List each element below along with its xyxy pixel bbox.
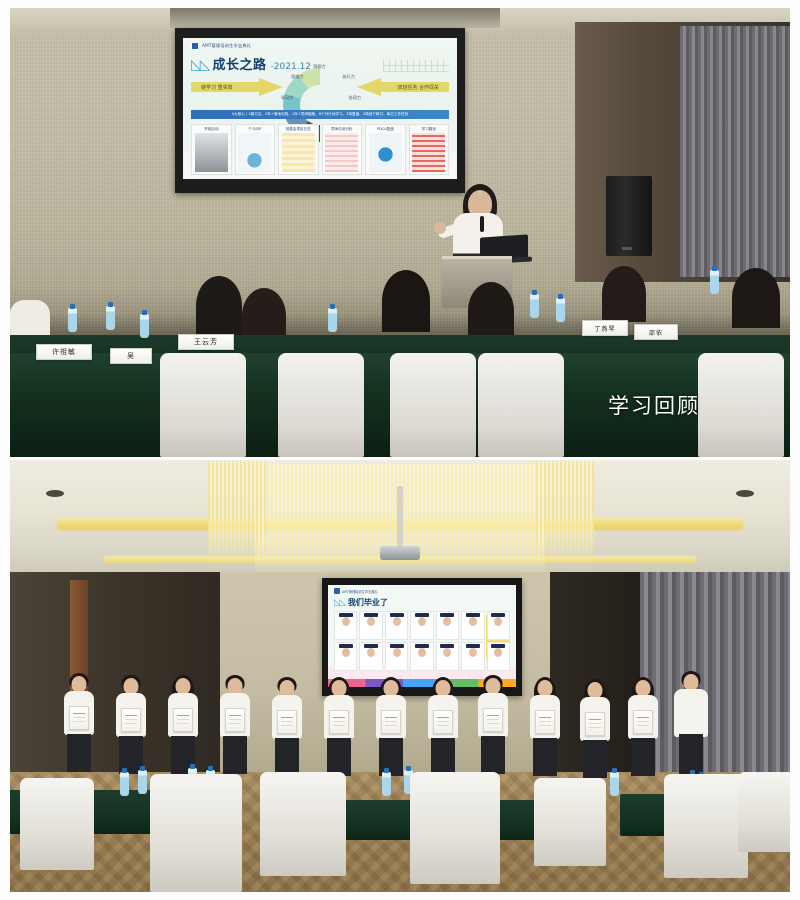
slide-card-label: 开班启动 [204, 127, 218, 132]
gauge-label-0: 驱动力 [281, 95, 294, 101]
graduate [578, 682, 612, 774]
graduate-photo [461, 611, 484, 640]
gauge-label-3: 执行力 [342, 74, 355, 80]
graduate-photo [334, 642, 357, 671]
graduate-face [443, 648, 451, 657]
slide-arrow-right-label: 双班任务 合作闯关 [397, 84, 449, 91]
projector-icon [380, 546, 420, 560]
slide-card-row: 开班启动 个人IDP 班委会项目日志 [191, 124, 449, 175]
attendee [382, 270, 430, 332]
slide-card-label: 个人IDP [248, 127, 261, 132]
certificate [225, 708, 245, 732]
window-curtain [640, 572, 790, 802]
slide-grid-decoration [383, 60, 449, 72]
graduate-face [367, 648, 375, 657]
slide-card-body [238, 133, 271, 172]
certificate [173, 708, 193, 732]
chair-cover [160, 353, 246, 457]
chair-cover [150, 774, 242, 892]
graduate [114, 678, 148, 774]
certificate [381, 710, 401, 734]
water-bottle [68, 308, 77, 332]
water-bottle [610, 772, 619, 796]
slide-header: AMT管理培训生毕业典礼 [334, 588, 378, 594]
slide-card-body [369, 133, 402, 172]
graduate-photo [385, 642, 408, 671]
graduate-photo [410, 611, 433, 640]
certificate [535, 710, 555, 734]
graduate-face [494, 617, 502, 626]
presenter-hand [434, 222, 446, 234]
name-placard: 吴 [110, 348, 152, 364]
graduate-legs [275, 738, 299, 776]
certificate [633, 710, 653, 734]
graduate-photo-grid [334, 611, 510, 671]
water-bottle [530, 294, 539, 318]
graduate [374, 680, 408, 774]
attendee [196, 276, 242, 336]
slide-card-body [195, 133, 228, 172]
graduate-photo [410, 642, 433, 671]
slide-card: 导师访谈分析 [322, 124, 363, 175]
graduate [270, 680, 304, 774]
certificate [121, 708, 141, 732]
slide-card-body [412, 133, 445, 172]
chair-cover [390, 353, 476, 457]
slide-org-header: AMT管理培训生毕业典礼 [342, 589, 378, 594]
water-bottle [106, 306, 115, 330]
name-placard: 邵依 [634, 324, 678, 340]
screen-surface: AMT管理培训生毕业典礼 ◺◺ 成长之路 -2021.12 链学习 重实效 [183, 38, 457, 179]
banquet-hall-scene: AMT管理培训生毕业典礼 ◺◺ 我们毕业了 [10, 460, 790, 892]
graduate [218, 678, 252, 774]
graduate [528, 680, 562, 774]
graduate-photo [487, 611, 510, 640]
graduate-face [342, 648, 350, 657]
slide-blue-bar: 5大核心 | 1套方法、2年+落地实践、1年+导师陪跑、6个月行动学习、3场复盘… [191, 110, 449, 119]
photo-graduation-certificates[interactable]: AMT管理培训生毕业典礼 ◺◺ 我们毕业了 [10, 460, 790, 892]
graduate-photo [487, 642, 510, 671]
chandelier-left-drop [208, 462, 266, 566]
slide-card: 开班启动 [191, 124, 232, 175]
slide-growth-road: AMT管理培训生毕业典礼 ◺◺ 成长之路 -2021.12 链学习 重实效 [183, 38, 457, 179]
slide-card: 个人IDP [235, 124, 276, 175]
chair-cover [278, 353, 364, 457]
chair-cover [260, 772, 346, 876]
graduate-face [469, 617, 477, 626]
name-placard: 许祖敏 [36, 344, 92, 360]
slide-header: AMT管理培训生毕业典礼 [191, 42, 251, 50]
slide-gauge: 驱动力 思维力 洞察力 执行力 协同力 [283, 68, 357, 106]
water-bottle [140, 314, 149, 338]
graduate-face [342, 617, 350, 626]
certificate [69, 706, 89, 730]
gauge-label-2: 洞察力 [313, 64, 326, 70]
graduate-legs [583, 740, 607, 778]
graduate-legs [679, 734, 703, 774]
graduate-face [367, 617, 375, 626]
slide-card-label: 学习路径 [422, 127, 436, 132]
slide-title: 成长之路 [213, 54, 267, 73]
graduate-legs [67, 734, 91, 772]
graduate-photo [359, 642, 382, 671]
slide-card-body [325, 133, 358, 172]
photo-collage: AMT管理培训生毕业典礼 ◺◺ 成长之路 -2021.12 链学习 重实效 [0, 0, 800, 900]
speaker-badge [622, 247, 632, 250]
graduate-face [418, 617, 426, 626]
slide-card-label: 导师访谈分析 [331, 127, 353, 132]
slide-card-label: 班委会项目日志 [286, 127, 311, 132]
projector-mount [397, 486, 403, 548]
graduate-legs [379, 738, 403, 776]
graduate-face [418, 648, 426, 657]
slide-arrow-left-label: 链学习 重实效 [191, 84, 233, 91]
slide-arrow-left: 链学习 重实效 [191, 78, 283, 96]
slide-title: 我们毕业了 [348, 597, 388, 608]
photo-caption-top: 学习回顾 [608, 390, 700, 420]
graduate-legs [481, 736, 505, 774]
graduate-face [494, 648, 502, 657]
attendee [468, 282, 514, 340]
chair-cover [534, 778, 606, 866]
graduate [476, 678, 510, 774]
slide-card: 班委会项目日志 [278, 124, 319, 175]
amt-logo-icon [334, 588, 340, 594]
attendee [732, 268, 780, 328]
graduate-legs [631, 738, 655, 776]
graduate-photo [385, 611, 408, 640]
water-bottle [328, 308, 337, 332]
gauge-label-1: 思维力 [291, 74, 304, 80]
gauge-label-4: 协同力 [348, 95, 361, 101]
water-bottle [382, 772, 391, 796]
graduate-photo [461, 642, 484, 671]
chandelier-right-drop [536, 462, 594, 566]
graduate-legs [431, 738, 455, 776]
slide-card-label: PDCA复盘 [377, 127, 394, 132]
certificate [433, 710, 453, 734]
water-bottle [138, 770, 147, 794]
certificate [277, 710, 297, 734]
graduate [62, 676, 96, 774]
slide-arrow-right: 双班任务 合作闯关 [357, 78, 449, 96]
attendee [602, 266, 646, 322]
microphone-icon [480, 216, 484, 232]
graduate [322, 680, 356, 774]
chair-cover [410, 772, 500, 884]
graduate-face [393, 617, 401, 626]
downlight-icon [736, 490, 754, 497]
slide-we-graduated: AMT管理培训生毕业典礼 ◺◺ 我们毕业了 [328, 585, 516, 687]
water-bottle [120, 772, 129, 796]
graduate [166, 678, 200, 774]
graduate-photo [436, 611, 459, 640]
graduate-legs [223, 736, 247, 774]
growth-arrows-icon: ◺◺ [334, 599, 345, 608]
slide-title-row: ◺◺ 我们毕业了 [334, 597, 388, 608]
water-bottle [556, 298, 565, 322]
photo-training-review[interactable]: AMT管理培训生毕业典礼 ◺◺ 成长之路 -2021.12 链学习 重实效 [10, 8, 790, 457]
graduate-face [469, 648, 477, 657]
graduate-legs [327, 738, 351, 776]
screen-surface: AMT管理培训生毕业典礼 ◺◺ 我们毕业了 [328, 585, 516, 687]
certificate [585, 712, 605, 736]
graduate-face [443, 617, 451, 626]
pa-speaker-icon [606, 176, 652, 256]
growth-arrows-icon: ◺◺ [191, 58, 209, 72]
slide-card: PDCA复盘 [365, 124, 406, 175]
graduate-photo [359, 611, 382, 640]
graduate-legs [533, 738, 557, 776]
downlight-icon [46, 490, 64, 497]
chair-cover [20, 778, 94, 870]
chair-cover [738, 772, 790, 852]
graduate [626, 680, 660, 774]
chair-cover [698, 353, 784, 457]
certificate [483, 708, 503, 732]
certificate [329, 710, 349, 734]
chair-cover [664, 774, 748, 878]
ceiling-shadow [170, 8, 500, 28]
graduate-photo [334, 611, 357, 640]
water-bottle [710, 270, 719, 294]
graduate-photo [436, 642, 459, 671]
name-placard: 王云芳 [178, 334, 234, 350]
graduate-torso [674, 689, 708, 737]
slide-card: 学习路径 [409, 124, 450, 175]
window-curtain [680, 26, 790, 277]
slide-card-body [282, 133, 315, 172]
name-placard: 丁燕琴 [582, 320, 628, 336]
graduate [426, 680, 460, 774]
slide-org-header: AMT管理培训生毕业典礼 [202, 43, 251, 49]
projector-screen[interactable]: AMT管理培训生毕业典礼 ◺◺ 成长之路 -2021.12 链学习 重实效 [175, 28, 465, 193]
graduate-manager [672, 674, 710, 774]
graduate-face [393, 648, 401, 657]
chair-cover [478, 353, 564, 457]
amt-logo-icon [191, 42, 199, 50]
